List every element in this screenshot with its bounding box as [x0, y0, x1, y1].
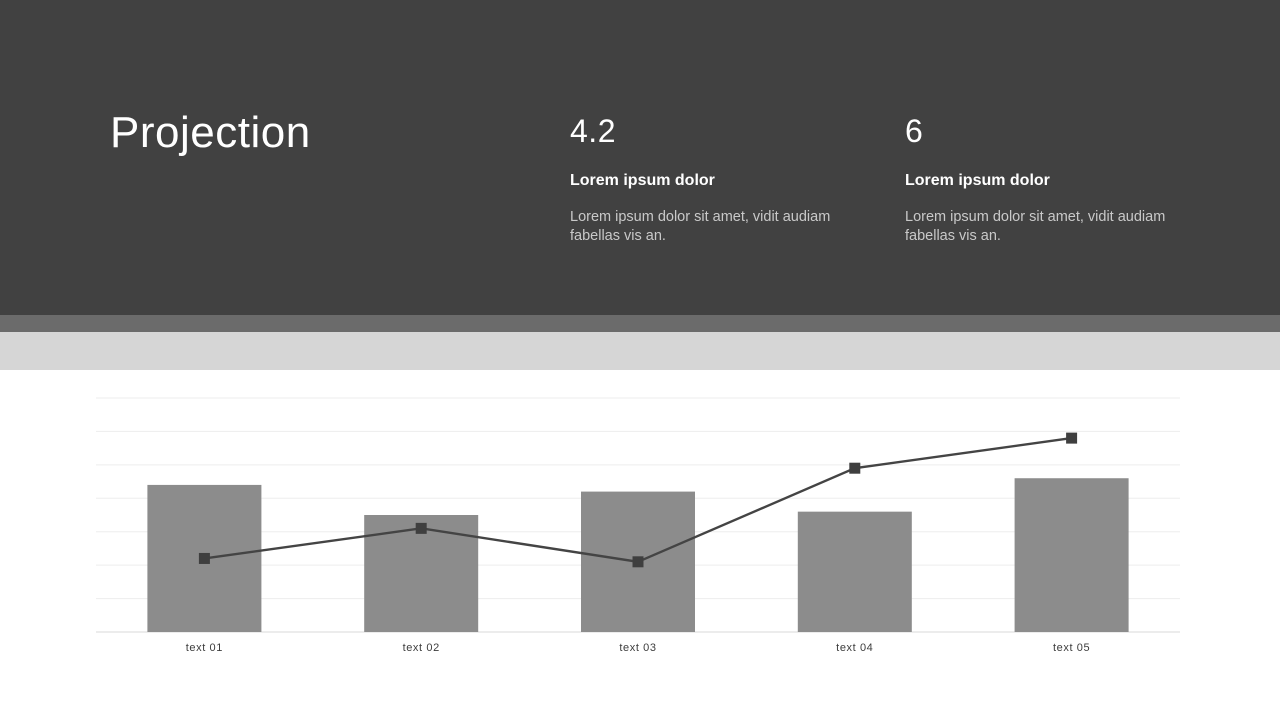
page-title: Projection — [110, 104, 311, 162]
combo-chart: text 01text 02text 03text 04text 05 — [0, 370, 1280, 720]
x-axis-tick-label: text 03 — [578, 642, 698, 654]
stat-heading-2: Lorem ipsum dolor — [905, 170, 1195, 192]
x-axis-tick-label: text 05 — [1012, 642, 1132, 654]
stat-value-1: 4.2 — [570, 110, 860, 152]
divider-stripe-light — [0, 332, 1280, 370]
bar — [1015, 478, 1129, 632]
stat-value-2: 6 — [905, 110, 1195, 152]
stat-block-1: 4.2 Lorem ipsum dolor Lorem ipsum dolor … — [570, 110, 860, 246]
stat-heading-1: Lorem ipsum dolor — [570, 170, 860, 192]
slide: Projection 4.2 Lorem ipsum dolor Lorem i… — [0, 0, 1280, 720]
bar — [798, 512, 912, 632]
x-axis-tick-label: text 02 — [361, 642, 481, 654]
x-axis-tick-label: text 01 — [144, 642, 264, 654]
stat-body-2: Lorem ipsum dolor sit amet, vidit audiam… — [905, 208, 1183, 246]
data-point-marker — [849, 463, 860, 474]
chart-canvas — [0, 370, 1280, 720]
divider-stripe-dark — [0, 315, 1280, 332]
data-point-marker — [1066, 433, 1077, 444]
data-point-marker — [416, 523, 427, 534]
data-point-marker — [199, 553, 210, 564]
x-axis-tick-label: text 04 — [795, 642, 915, 654]
stat-block-2: 6 Lorem ipsum dolor Lorem ipsum dolor si… — [905, 110, 1195, 246]
data-point-marker — [633, 556, 644, 567]
stat-body-1: Lorem ipsum dolor sit amet, vidit audiam… — [570, 208, 848, 246]
